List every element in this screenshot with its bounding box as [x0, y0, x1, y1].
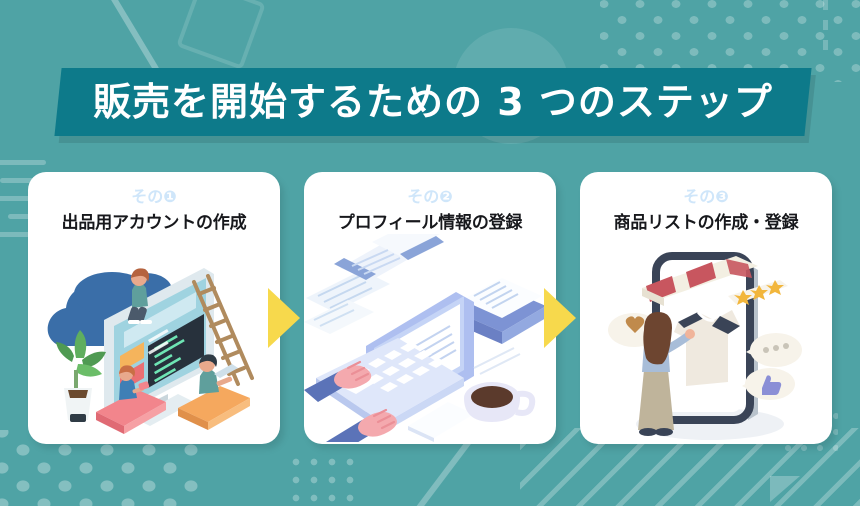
arrow-step1-to-step2 [268, 288, 300, 348]
title-banner: 販売を開始するための 3 つのステップ [54, 68, 811, 136]
step-card-2[interactable]: その❷ プロフィール情報の登録 [304, 172, 556, 444]
background-diagonal-line-top-left [108, 0, 159, 73]
infographic-canvas: 販売を開始するための 3 つのステップ その❶ 出品用アカウントの作成 [0, 0, 860, 506]
page-title: 販売を開始するための 3 つのステップ [93, 83, 773, 121]
step-illustration-2 [304, 234, 556, 442]
arrow-step2-to-step3 [544, 288, 576, 348]
step-label-3: その❸ [580, 189, 832, 205]
step-card-1[interactable]: その❶ 出品用アカウントの作成 [28, 172, 280, 444]
step-illustration-1 [28, 234, 280, 442]
background-dots-bottom-center [284, 450, 358, 506]
steps-container: その❶ 出品用アカウントの作成 [0, 172, 860, 448]
step-illustration-3 [580, 234, 832, 442]
step-card-3[interactable]: その❸ 商品リストの作成・登録 [580, 172, 832, 444]
background-dashed-line-top-right [823, 0, 828, 52]
step-title-3: 商品リストの作成・登録 [580, 213, 832, 233]
step-label-2: その❷ [304, 189, 556, 205]
background-triangle-bottom-right [770, 476, 800, 502]
step-title-2: プロフィール情報の登録 [304, 213, 556, 233]
step-title-1: 出品用アカウントの作成 [28, 213, 280, 233]
background-rotated-square [176, 0, 266, 70]
step-label-1: その❶ [28, 189, 280, 205]
